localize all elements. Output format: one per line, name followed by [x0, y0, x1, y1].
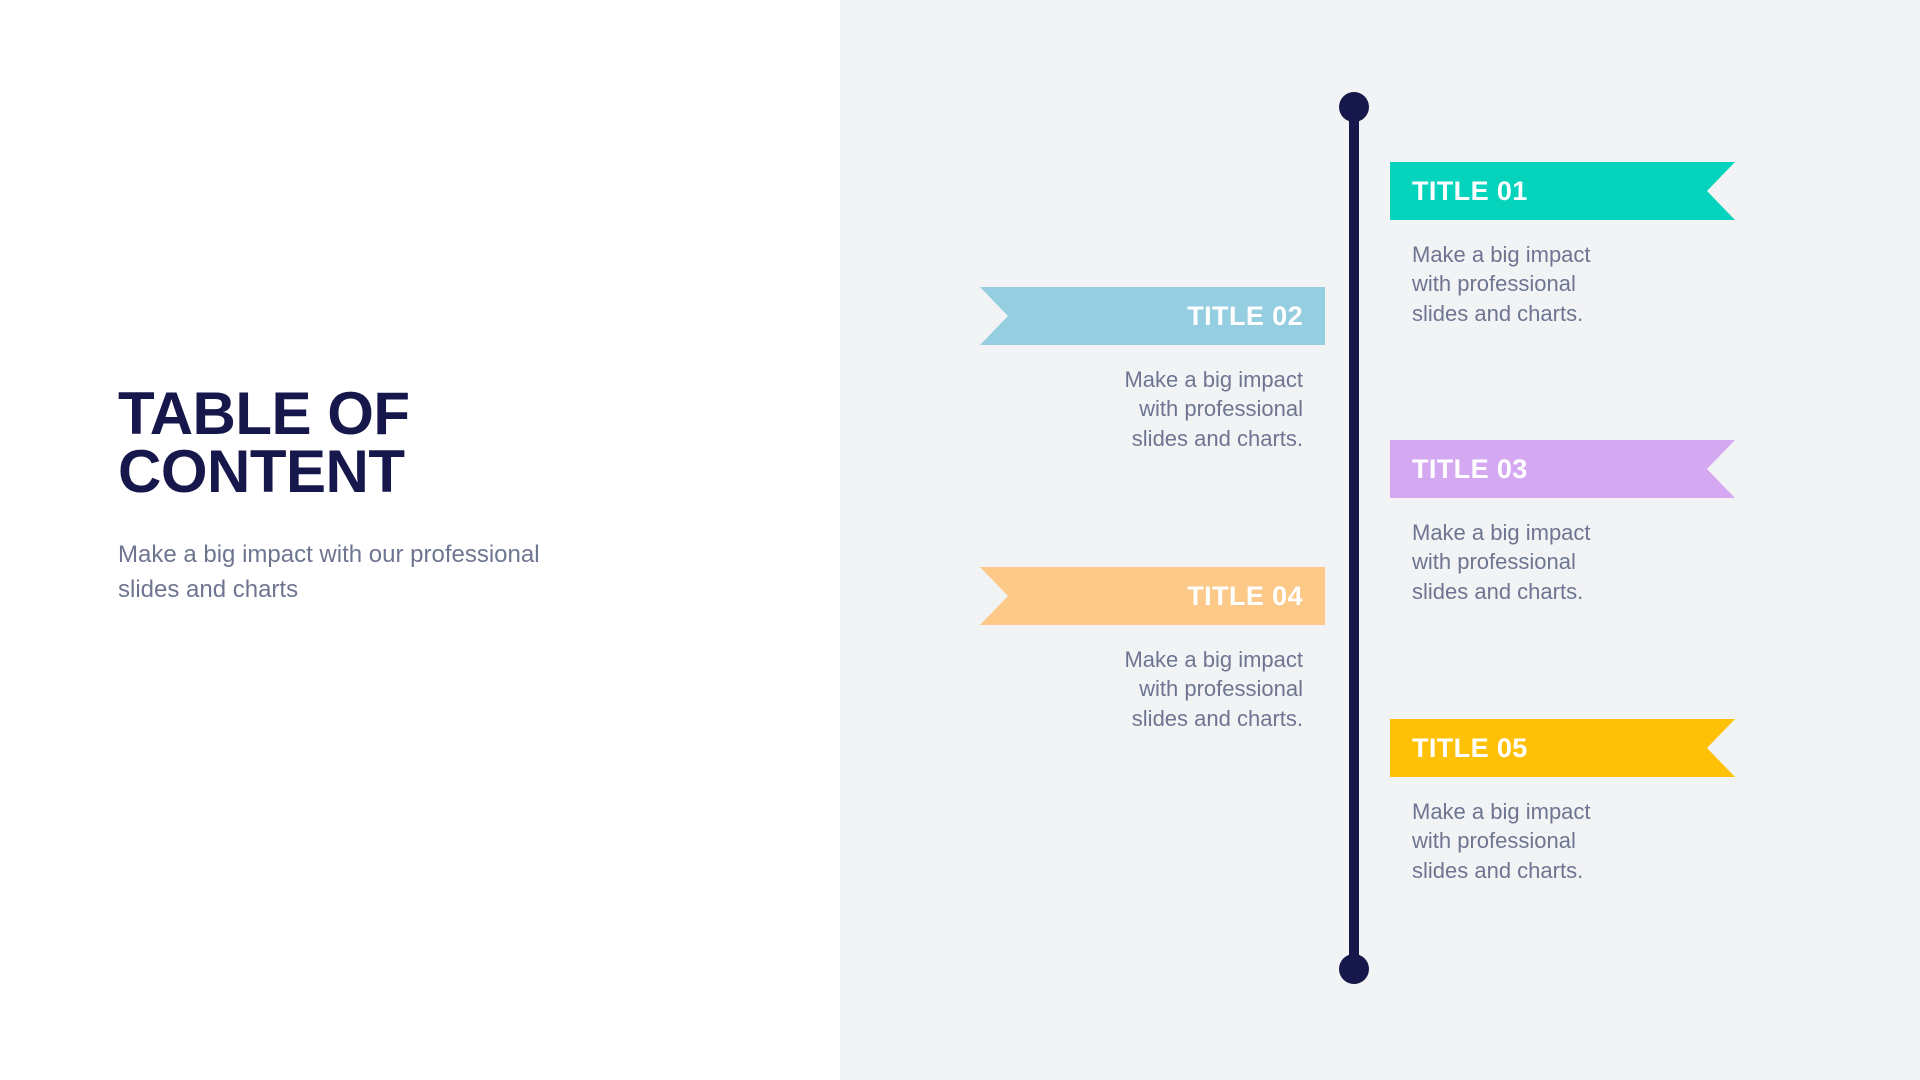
ribbon-title-01: TITLE 01 [1412, 176, 1528, 207]
timeline-description-03: Make a big impact with professional slid… [1412, 518, 1612, 606]
ribbon-title-03: TITLE 03 [1412, 454, 1528, 485]
timeline-description-01: Make a big impact with professional slid… [1412, 240, 1612, 328]
timeline-description-04: Make a big impact with professional slid… [1103, 645, 1303, 733]
timeline-description-05: Make a big impact with professional slid… [1412, 797, 1612, 885]
left-panel: TABLE OF CONTENT Make a big impact with … [0, 0, 840, 1080]
page-subtitle: Make a big impact with our professional … [118, 538, 548, 608]
ribbon-banner-01[interactable]: TITLE 01 [1390, 162, 1735, 220]
ribbon-banner-05[interactable]: TITLE 05 [1390, 719, 1735, 777]
timeline-item-01[interactable]: TITLE 01 Make a big impact with professi… [1390, 162, 1735, 328]
timeline-item-05[interactable]: TITLE 05 Make a big impact with professi… [1390, 719, 1735, 885]
page-title: TABLE OF CONTENT [118, 385, 638, 500]
timeline-dot-bottom [1339, 954, 1369, 984]
ribbon-banner-02[interactable]: TITLE 02 [980, 287, 1325, 345]
slide-root: TABLE OF CONTENT Make a big impact with … [0, 0, 1920, 1080]
timeline-item-03[interactable]: TITLE 03 Make a big impact with professi… [1390, 440, 1735, 606]
timeline-description-02: Make a big impact with professional slid… [1103, 365, 1303, 453]
ribbon-banner-03[interactable]: TITLE 03 [1390, 440, 1735, 498]
ribbon-title-05: TITLE 05 [1412, 733, 1528, 764]
ribbon-banner-04[interactable]: TITLE 04 [980, 567, 1325, 625]
left-content-block: TABLE OF CONTENT Make a big impact with … [118, 385, 638, 608]
timeline-item-02[interactable]: TITLE 02 Make a big impact with professi… [980, 287, 1325, 453]
timeline-panel [840, 0, 1920, 1080]
timeline-dot-top [1339, 92, 1369, 122]
ribbon-title-04: TITLE 04 [1187, 581, 1303, 612]
timeline-spine [1349, 100, 1359, 976]
timeline-item-04[interactable]: TITLE 04 Make a big impact with professi… [980, 567, 1325, 733]
ribbon-title-02: TITLE 02 [1187, 301, 1303, 332]
